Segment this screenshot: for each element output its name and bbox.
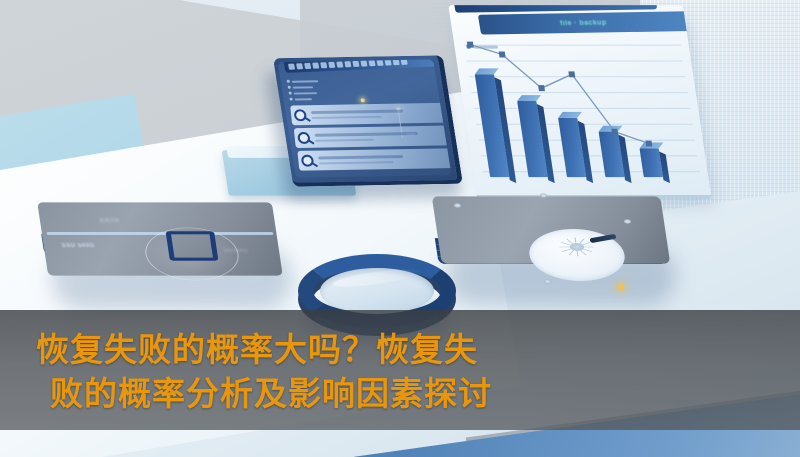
headline-line-1: 恢复失败的概率大吗？恢复失 (36, 328, 478, 372)
list-item[interactable] (290, 103, 446, 125)
ssd-edge-label: SSD 500G (61, 243, 95, 249)
monitor-screen (278, 59, 452, 177)
tab-chip[interactable] (304, 62, 311, 68)
torus-inner-surface (320, 268, 434, 314)
sidebar-bullet-icon (287, 80, 290, 83)
headline-block: 恢复失败的概率大吗？恢复失 败的概率分析及影响因素探讨 (0, 314, 800, 430)
hdd-screw-icon (540, 193, 548, 197)
ssd-edge-label-group: SSD 500G (61, 243, 95, 249)
hdd-spindle-hub (569, 243, 584, 251)
hdd-status-led (618, 284, 624, 290)
sidebar-item-label (294, 98, 311, 100)
ssd-top-label: DATA (99, 218, 120, 224)
monitor-title-bar (283, 59, 436, 72)
tab-chip[interactable] (384, 59, 391, 65)
tab-chip[interactable] (328, 61, 335, 67)
chart-dashboard-panel: storage file · backup (448, 5, 712, 199)
sidebar-bullet-icon (289, 98, 292, 101)
hard-disk-drive-device (432, 190, 682, 305)
illustration-canvas: storage file · backup (0, 0, 800, 457)
monitor-indicator-dot (360, 98, 365, 102)
headline-line-2: 败的概率分析及影响因素探讨 (36, 372, 492, 416)
tab-chip[interactable] (360, 60, 367, 66)
search-icon (294, 109, 307, 121)
tab-chip[interactable] (312, 62, 319, 68)
chart-panel-header-front: file · backup (478, 11, 693, 34)
monitor-sidebar (287, 79, 325, 103)
tab-chip[interactable] (336, 61, 343, 67)
sidebar-item-label (294, 92, 318, 94)
hdd-screw-icon (454, 203, 462, 207)
list-item[interactable] (297, 148, 451, 170)
tab-chip[interactable] (344, 61, 351, 67)
list-item-title (311, 109, 404, 114)
list-item-subtitle (312, 116, 381, 119)
sidebar-bullet-icon (287, 86, 290, 89)
list-item-subtitle (315, 139, 374, 142)
tab-chip[interactable] (288, 63, 295, 69)
tab-chip[interactable] (352, 60, 359, 66)
sidebar-bullet-icon (288, 92, 291, 95)
tab-chip[interactable] (401, 59, 408, 64)
chart-trend-line (452, 29, 707, 167)
chart-header-front-label: file · backup (560, 19, 608, 27)
list-item-title (315, 132, 418, 137)
monitor-bezel (273, 55, 463, 186)
search-icon (301, 155, 314, 167)
list-item-title (318, 155, 403, 159)
hdd-screw-icon (624, 219, 632, 223)
monitor-list (290, 103, 452, 174)
tab-chip[interactable] (296, 63, 303, 69)
hdd-screw-icon (544, 279, 552, 283)
search-icon (297, 132, 310, 144)
sidebar-item-label (293, 86, 314, 88)
tab-chip[interactable] (376, 59, 383, 65)
tab-chip[interactable] (392, 59, 399, 64)
chart-panel-card: storage file · backup (448, 5, 712, 199)
tab-chip[interactable] (320, 62, 327, 68)
list-item-subtitle (319, 161, 394, 164)
list-item[interactable] (294, 126, 450, 148)
chip-icon (166, 231, 219, 260)
monitor-device (273, 55, 463, 186)
tab-chip[interactable] (368, 60, 375, 66)
sidebar-item-label (292, 80, 319, 82)
external-ssd-device: DATA recovery SSD 500G (44, 196, 290, 304)
ssd-side-label: recovery (223, 248, 248, 254)
